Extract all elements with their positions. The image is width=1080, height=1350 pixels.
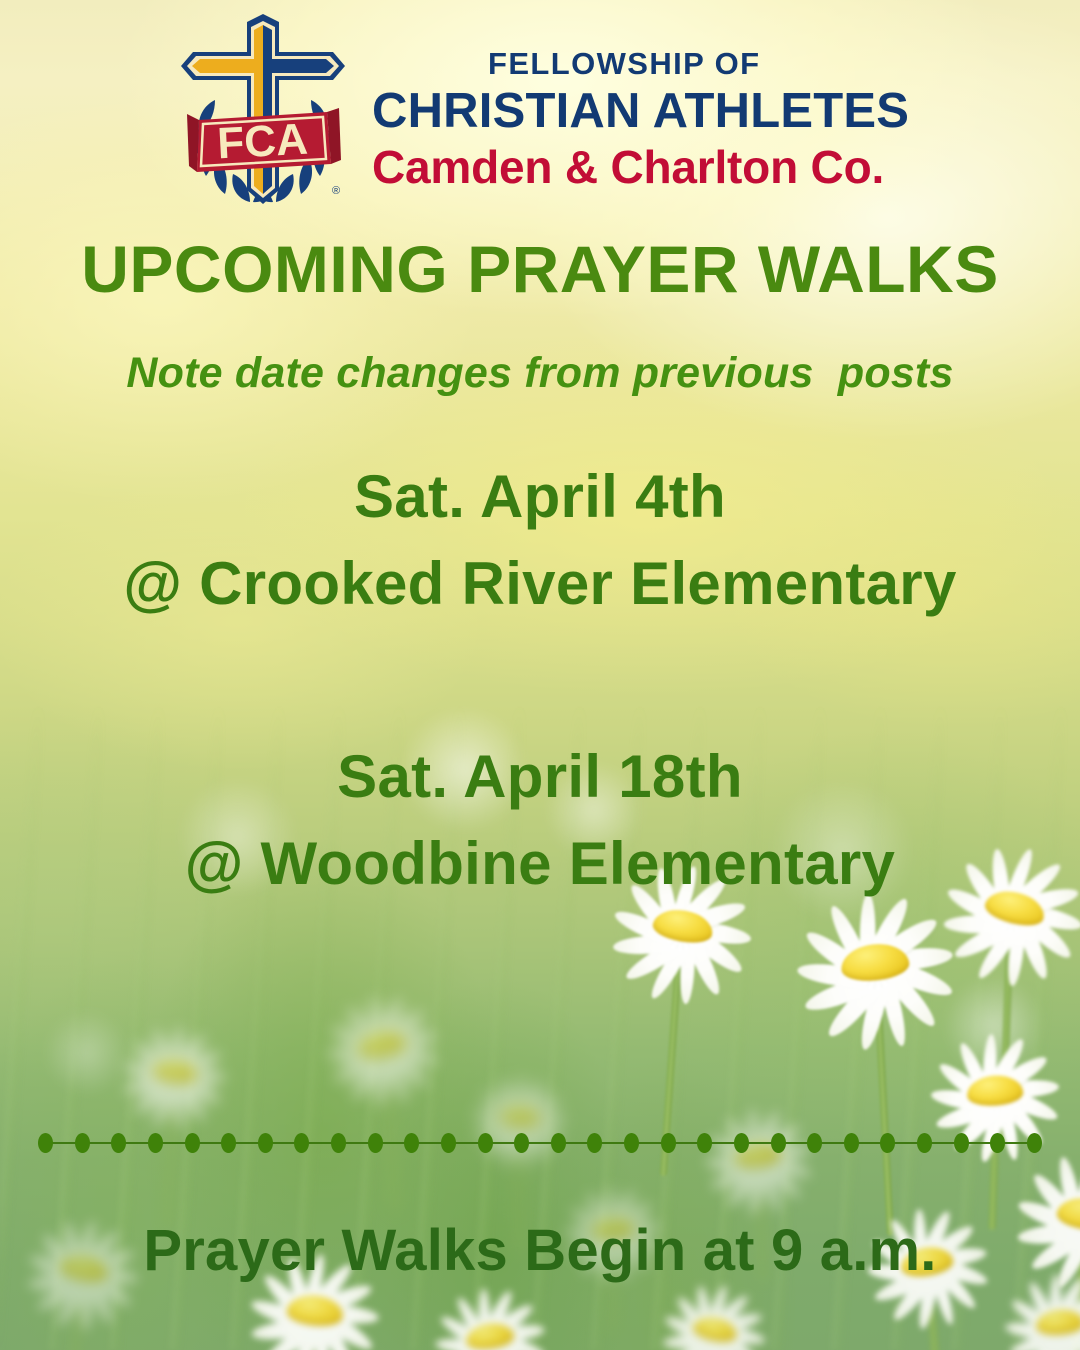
divider-dot bbox=[954, 1133, 969, 1153]
daisy-center bbox=[356, 1028, 408, 1061]
divider-dot bbox=[697, 1133, 712, 1153]
event-entry: Sat. April 4th @ Crooked River Elementar… bbox=[0, 465, 1080, 617]
daisy-stem bbox=[70, 1285, 85, 1350]
divider-dot bbox=[148, 1133, 163, 1153]
divider-dot bbox=[38, 1133, 53, 1153]
page-title: UPCOMING PRAYER WALKS bbox=[0, 236, 1080, 302]
event-location: @ Woodbine Elementary bbox=[0, 832, 1080, 897]
event-location: @ Crooked River Elementary bbox=[0, 552, 1080, 617]
svg-text:®: ® bbox=[332, 185, 340, 197]
daisy-petals bbox=[425, 1292, 554, 1350]
daisy-petals bbox=[997, 1281, 1080, 1350]
divider-dot bbox=[880, 1133, 895, 1153]
daisy-petals bbox=[785, 901, 965, 1024]
daisy-center bbox=[966, 1074, 1024, 1107]
divider-dot bbox=[441, 1133, 456, 1153]
daisy-center bbox=[499, 1105, 540, 1129]
daisy-flower bbox=[116, 1032, 233, 1113]
daisy-flower bbox=[785, 901, 965, 1024]
divider-dot bbox=[185, 1133, 200, 1153]
daisy-center bbox=[839, 941, 910, 984]
divider-dot bbox=[551, 1133, 566, 1153]
daisy-flower bbox=[654, 1285, 776, 1350]
divider-dot bbox=[111, 1133, 126, 1153]
daisy-flower bbox=[922, 1043, 1068, 1139]
divider-dot bbox=[734, 1133, 749, 1153]
svg-text:FCA: FCA bbox=[216, 115, 309, 169]
divider-dot bbox=[587, 1133, 602, 1153]
daisy-petals bbox=[922, 1043, 1068, 1139]
event-date: Sat. April 4th bbox=[0, 465, 1080, 530]
daisy-flower bbox=[316, 998, 447, 1092]
daisy-flower bbox=[696, 1113, 819, 1198]
divider-dot bbox=[514, 1133, 529, 1153]
divider-dot bbox=[294, 1133, 309, 1153]
daisy-flower bbox=[997, 1281, 1080, 1350]
daisy-center bbox=[1035, 1308, 1080, 1337]
divider-dot bbox=[75, 1133, 90, 1153]
daisy-stem bbox=[989, 1110, 1000, 1230]
daisy-stem bbox=[874, 986, 894, 1236]
divider-dot bbox=[368, 1133, 383, 1153]
daisy-petals bbox=[116, 1032, 233, 1113]
divider-dot bbox=[917, 1133, 932, 1153]
event-entry: Sat. April 18th @ Woodbine Elementary bbox=[0, 745, 1080, 897]
divider-dot bbox=[331, 1133, 346, 1153]
divider-dot bbox=[807, 1133, 822, 1153]
fca-logo-mark: FCA ® bbox=[173, 14, 353, 206]
subtitle-note: Note date changes from previous posts bbox=[0, 352, 1080, 395]
daisy-flower bbox=[425, 1292, 554, 1350]
daisy-stem bbox=[926, 1280, 941, 1350]
daisy-stem bbox=[1058, 1339, 1067, 1350]
divider-dot bbox=[844, 1133, 859, 1153]
logo-line-fellowship-of: FELLOWSHIP OF bbox=[488, 48, 972, 79]
daisy-center bbox=[464, 1321, 515, 1350]
daisy-petals bbox=[696, 1113, 819, 1198]
divider-dot bbox=[258, 1133, 273, 1153]
logo-line-chapter: Camden & Charlton Co. bbox=[372, 142, 972, 193]
divider-dot bbox=[771, 1133, 786, 1153]
daisy-stem bbox=[304, 1330, 316, 1350]
fca-logo-wordmark: FELLOWSHIP OF CHRISTIAN ATHLETES Camden … bbox=[372, 48, 972, 192]
event-date: Sat. April 18th bbox=[0, 745, 1080, 810]
start-time-text: Prayer Walks Begin at 9 a.m. bbox=[0, 1222, 1080, 1280]
daisy-center bbox=[152, 1057, 198, 1085]
prayer-walk-flyer: FCA ® FELLOWSHIP OF CHRISTIAN ATHLETES C… bbox=[0, 0, 1080, 1350]
divider-dot bbox=[990, 1133, 1005, 1153]
divider-dot bbox=[661, 1133, 676, 1153]
daisy-petals bbox=[316, 998, 447, 1092]
logo-line-christian-athletes: CHRISTIAN ATHLETES bbox=[372, 84, 972, 139]
divider-dot bbox=[1027, 1133, 1042, 1153]
divider-dot bbox=[478, 1133, 493, 1153]
daisy-stem bbox=[999, 928, 1014, 1148]
dotted-divider bbox=[38, 1132, 1042, 1154]
divider-dot bbox=[624, 1133, 639, 1153]
divider-dot bbox=[404, 1133, 419, 1153]
daisy-petals bbox=[654, 1285, 776, 1350]
daisy-stem bbox=[165, 1087, 177, 1227]
daisy-center bbox=[691, 1314, 739, 1346]
daisy-center bbox=[651, 905, 716, 947]
daisy-stem bbox=[700, 1344, 715, 1350]
daisy-center bbox=[286, 1293, 345, 1328]
divider-dot bbox=[221, 1133, 236, 1153]
